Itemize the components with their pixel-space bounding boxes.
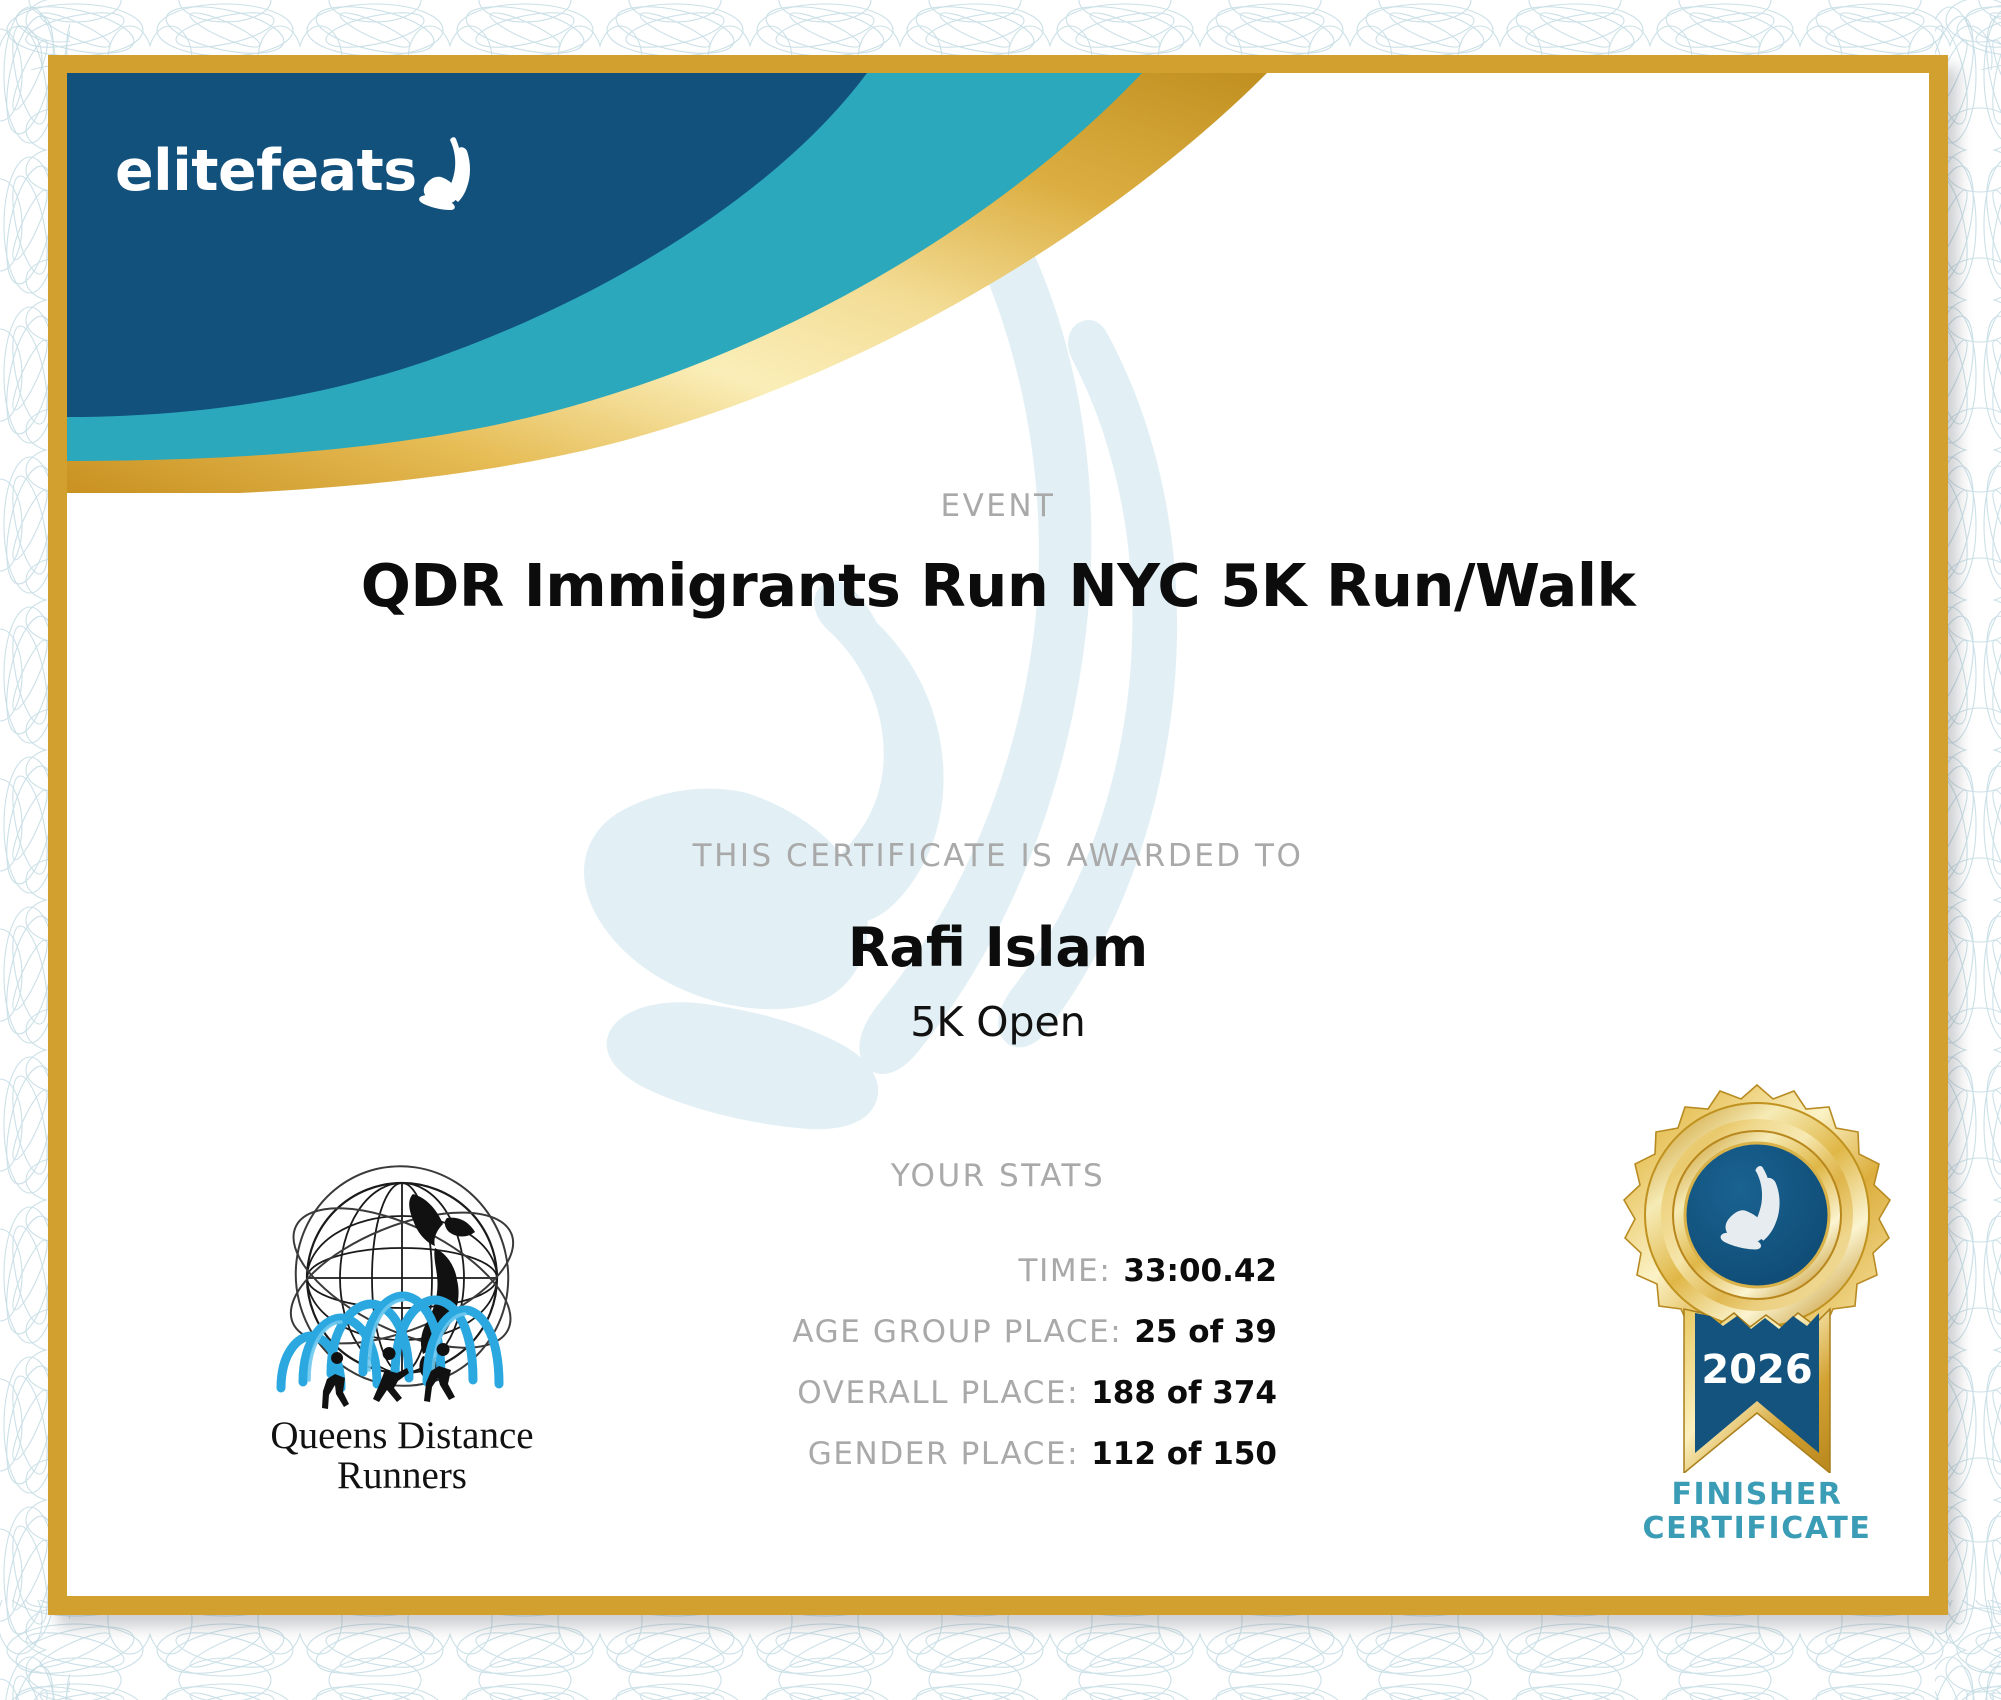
certificate-content: EVENT QDR Immigrants Run NYC 5K Run/Walk… — [67, 73, 1929, 1596]
qdr-name-line1: Queens Distance — [270, 1414, 533, 1457]
stat-row-age-group-place: AGE GROUP PLACE: 25 of 39 — [497, 1314, 1277, 1350]
medal-rosette-icon: 2026 — [1562, 1073, 1929, 1473]
finisher-caption-line2: CERTIFICATE — [1562, 1512, 1929, 1546]
stats-table: TIME: 33:00.42 AGE GROUP PLACE: 25 of 39… — [497, 1253, 1277, 1497]
recipient-name: Rafi Islam — [67, 916, 1929, 979]
medal-year: 2026 — [1701, 1347, 1812, 1393]
stat-key-overall-place: OVERALL PLACE: — [797, 1375, 1079, 1411]
event-label: EVENT — [67, 488, 1929, 524]
stat-key-time: TIME: — [1019, 1253, 1112, 1289]
stat-value-time: 33:00.42 — [1123, 1253, 1277, 1289]
finisher-certificate-caption: FINISHER CERTIFICATE — [1562, 1478, 1929, 1545]
certificate-page: elitefeats EVENT QDR Immigrants Run NYC … — [0, 0, 2001, 1700]
stat-key-age-group-place: AGE GROUP PLACE: — [792, 1314, 1122, 1350]
stat-row-overall-place: OVERALL PLACE: 188 of 374 — [497, 1375, 1277, 1411]
event-name: QDR Immigrants Run NYC 5K Run/Walk — [67, 551, 1929, 620]
certificate-inner-panel: elitefeats EVENT QDR Immigrants Run NYC … — [67, 73, 1929, 1596]
stat-value-gender-place: 112 of 150 — [1091, 1436, 1277, 1472]
queens-distance-runners-logo: Queens Distance Runners — [237, 1158, 567, 1498]
awarded-to-label: THIS CERTIFICATE IS AWARDED TO — [67, 838, 1929, 874]
stat-key-gender-place: GENDER PLACE: — [808, 1436, 1079, 1472]
stat-value-age-group-place: 25 of 39 — [1134, 1314, 1277, 1350]
recipient-division: 5K Open — [67, 998, 1929, 1046]
certificate-card: elitefeats EVENT QDR Immigrants Run NYC … — [48, 55, 1948, 1615]
stat-value-overall-place: 188 of 374 — [1091, 1375, 1277, 1411]
finisher-medal-badge: 2026 FINISHER CERTIFICATE — [1562, 1073, 1929, 1596]
stat-row-time: TIME: 33:00.42 — [497, 1253, 1277, 1289]
stat-row-gender-place: GENDER PLACE: 112 of 150 — [497, 1436, 1277, 1472]
finisher-caption-line1: FINISHER — [1562, 1478, 1929, 1512]
qdr-name-line2: Runners — [337, 1454, 467, 1497]
